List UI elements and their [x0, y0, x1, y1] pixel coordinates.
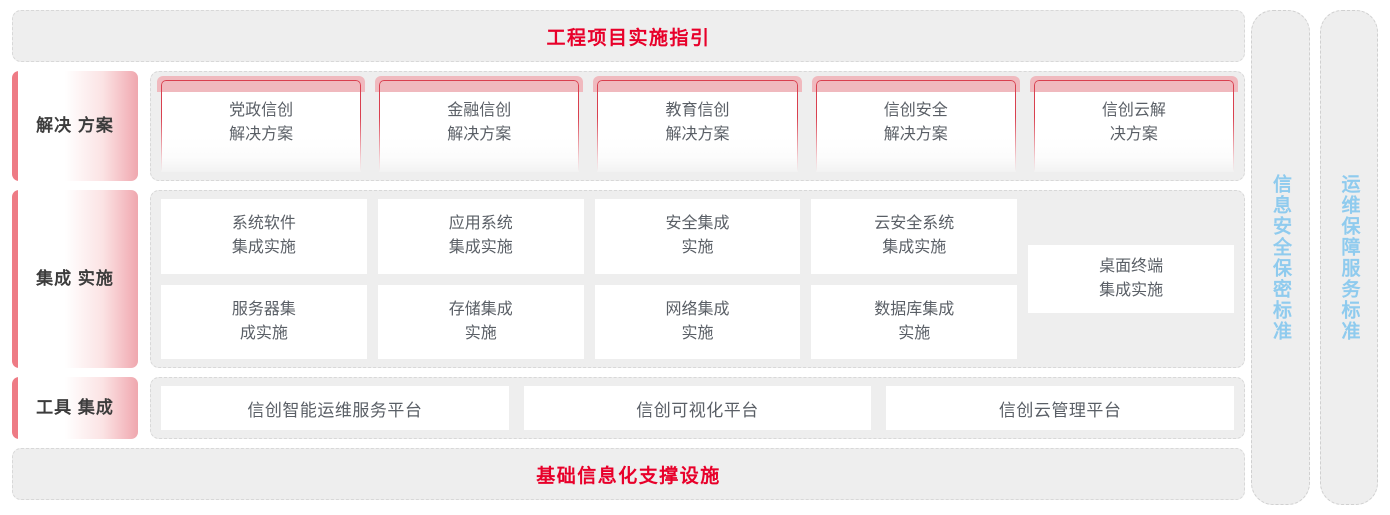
- integration-card[interactable]: 安全集成 实施: [595, 199, 801, 274]
- sidebar-security-standard[interactable]: 信息安全保密标准: [1251, 10, 1310, 505]
- layer-tools: 工具 集成 信创智能运维服务平台 信创可视化平台 信创云管理平台: [12, 377, 1245, 439]
- integration-card-label: 网络集成 实施: [665, 298, 729, 346]
- solution-card[interactable]: 金融信创 解决方案: [379, 80, 579, 172]
- integration-card-label: 存储集成 实施: [449, 298, 513, 346]
- tools-grid: 信创智能运维服务平台 信创可视化平台 信创云管理平台: [161, 386, 1234, 430]
- solution-card[interactable]: 信创安全 解决方案: [816, 80, 1016, 172]
- tool-card-label: 信创云管理平台: [999, 396, 1122, 421]
- sidebar-column: 信息安全保密标准 运维保障服务标准: [1245, 0, 1390, 515]
- sidebar-label: 信息安全保密标准: [1266, 174, 1294, 342]
- solution-card-label: 金融信创 解决方案: [447, 99, 511, 147]
- integration-card-label: 安全集成 实施: [665, 212, 729, 260]
- sidebar-ops-standard[interactable]: 运维保障服务标准: [1320, 10, 1379, 505]
- footer-band: 基础信息化支撑设施: [12, 448, 1245, 500]
- integration-grid: 系统软件 集成实施 服务器集 成实施 应用系统 集成实施 存储集成 实施: [161, 199, 1234, 359]
- layer-tab-solutions[interactable]: 解决 方案: [12, 71, 138, 181]
- solution-card[interactable]: 党政信创 解决方案: [161, 80, 361, 172]
- solution-card-label: 党政信创 解决方案: [229, 99, 293, 147]
- solution-card-label: 教育信创 解决方案: [665, 99, 729, 147]
- integration-card-label: 服务器集 成实施: [232, 298, 296, 346]
- integration-card[interactable]: 存储集成 实施: [378, 285, 584, 360]
- solution-card-label: 信创安全 解决方案: [884, 99, 948, 147]
- layer-tab-tools[interactable]: 工具 集成: [12, 377, 138, 439]
- tools-panel: 信创智能运维服务平台 信创可视化平台 信创云管理平台: [150, 377, 1245, 439]
- integration-panel: 系统软件 集成实施 服务器集 成实施 应用系统 集成实施 存储集成 实施: [150, 190, 1245, 368]
- layer-tab-label: 解决 方案: [36, 115, 114, 138]
- solution-card[interactable]: 教育信创 解决方案: [597, 80, 797, 172]
- header-title: 工程项目实施指引: [546, 23, 710, 50]
- diagram-root: 工程项目实施指引 解决 方案 党政信创 解决方案 金融信创 解决方案 教育信创 …: [0, 0, 1390, 515]
- integration-column: 系统软件 集成实施 服务器集 成实施: [161, 199, 367, 359]
- integration-card-label: 桌面终端 集成实施: [1099, 255, 1163, 303]
- sidebar-label: 运维保障服务标准: [1335, 174, 1363, 342]
- integration-card[interactable]: 服务器集 成实施: [161, 285, 367, 360]
- integration-card-label: 应用系统 集成实施: [449, 212, 513, 260]
- footer-title: 基础信息化支撑设施: [536, 461, 721, 488]
- tool-card-label: 信创智能运维服务平台: [247, 396, 422, 421]
- layer-integration: 集成 实施 系统软件 集成实施 服务器集 成实施 应用系统 集成实施: [12, 190, 1245, 368]
- solutions-panel: 党政信创 解决方案 金融信创 解决方案 教育信创 解决方案 信创安全 解决方案 …: [150, 71, 1245, 181]
- integration-card[interactable]: 系统软件 集成实施: [161, 199, 367, 274]
- integration-column-wide: 桌面终端 集成实施: [1028, 199, 1234, 359]
- tool-card-label: 信创可视化平台: [636, 396, 759, 421]
- integration-column: 云安全系统 集成实施 数据库集成 实施: [811, 199, 1017, 359]
- integration-card-label: 数据库集成 实施: [874, 298, 954, 346]
- layer-tab-label: 工具 集成: [36, 397, 114, 420]
- integration-card-label: 系统软件 集成实施: [232, 212, 296, 260]
- integration-card-label: 云安全系统 集成实施: [874, 212, 954, 260]
- integration-column: 安全集成 实施 网络集成 实施: [595, 199, 801, 359]
- main-column: 工程项目实施指引 解决 方案 党政信创 解决方案 金融信创 解决方案 教育信创 …: [0, 0, 1245, 515]
- integration-card[interactable]: 云安全系统 集成实施: [811, 199, 1017, 274]
- solutions-grid: 党政信创 解决方案 金融信创 解决方案 教育信创 解决方案 信创安全 解决方案 …: [161, 80, 1234, 172]
- integration-card[interactable]: 数据库集成 实施: [811, 285, 1017, 360]
- tool-card[interactable]: 信创可视化平台: [524, 386, 872, 430]
- integration-card[interactable]: 网络集成 实施: [595, 285, 801, 360]
- solution-card[interactable]: 信创云解 决方案: [1034, 80, 1234, 172]
- integration-card-desktop[interactable]: 桌面终端 集成实施: [1028, 245, 1234, 313]
- solution-card-label: 信创云解 决方案: [1102, 99, 1166, 147]
- layer-tab-integration[interactable]: 集成 实施: [12, 190, 138, 368]
- tool-card[interactable]: 信创云管理平台: [886, 386, 1234, 430]
- integration-card[interactable]: 应用系统 集成实施: [378, 199, 584, 274]
- tool-card[interactable]: 信创智能运维服务平台: [161, 386, 509, 430]
- layer-tab-label: 集成 实施: [36, 268, 114, 291]
- layer-solutions: 解决 方案 党政信创 解决方案 金融信创 解决方案 教育信创 解决方案 信创安全…: [12, 71, 1245, 181]
- integration-column: 应用系统 集成实施 存储集成 实施: [378, 199, 584, 359]
- header-band: 工程项目实施指引: [12, 10, 1245, 62]
